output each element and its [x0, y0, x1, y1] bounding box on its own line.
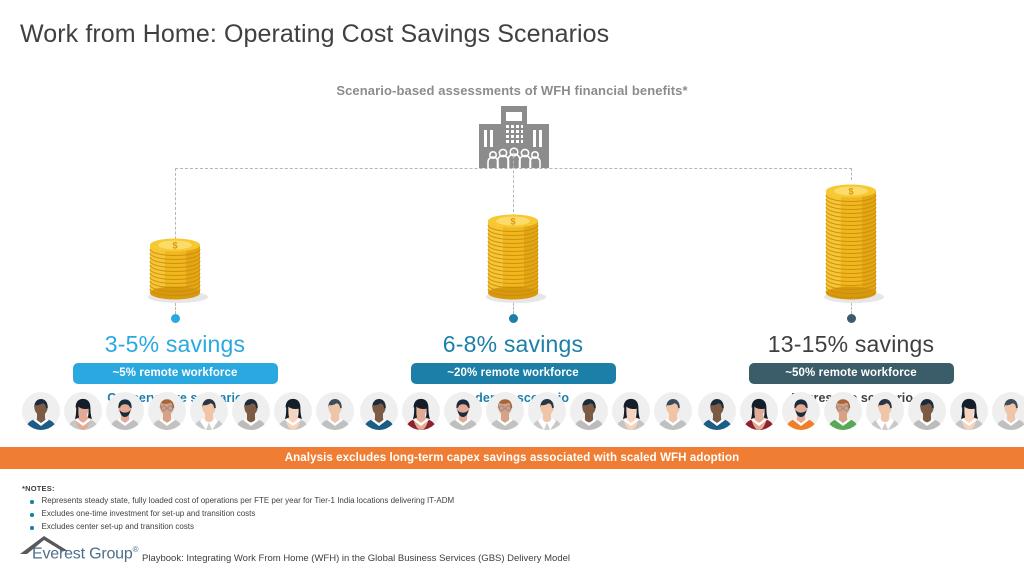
person-avatar-icon — [612, 392, 650, 430]
slide-canvas: Work from Home: Operating Cost Savings S… — [0, 0, 1024, 576]
remote-workforce-badge[interactable]: ~50% remote workforce — [749, 363, 954, 384]
connector-dot-line — [175, 303, 176, 314]
everest-group-logo[interactable]: Everest Group® — [18, 534, 140, 568]
avatar-group-moderate — [360, 392, 692, 430]
remote-workforce-badge[interactable]: ~5% remote workforce — [73, 363, 278, 384]
person-avatar-icon — [190, 392, 228, 430]
coin-stack-wrapper: $ — [681, 170, 1021, 310]
person-avatar-icon — [570, 392, 608, 430]
person-avatar-icon — [486, 392, 524, 430]
person-avatar-icon — [824, 392, 862, 430]
person-avatar-icon — [528, 392, 566, 430]
person-avatar-icon — [64, 392, 102, 430]
remote-workforce-badge[interactable]: ~20% remote workforce — [411, 363, 616, 384]
person-avatar-icon — [22, 392, 60, 430]
coin-stack-icon: $ — [806, 173, 896, 310]
person-avatar-icon — [698, 392, 736, 430]
logo-name: Everest Group — [32, 545, 133, 562]
avatar-group-conservative — [22, 392, 354, 430]
coin-stack-wrapper: $ — [5, 170, 345, 310]
scenario-column-conservative: $ 3-5% savings ~5% remote workforce Cons… — [5, 170, 345, 405]
chart-subtitle: Scenario-based assessments of WFH financ… — [0, 83, 1024, 98]
person-avatar-icon — [908, 392, 946, 430]
person-avatar-icon — [360, 392, 398, 430]
note-item: Excludes center set-up and transition co… — [22, 522, 922, 532]
connector-dot — [509, 314, 518, 323]
footer: Everest Group® Playbook: Integrating Wor… — [18, 534, 570, 568]
coin-stack-wrapper: $ — [343, 170, 683, 310]
svg-text:$: $ — [510, 217, 515, 227]
connector-dot — [171, 314, 180, 323]
note-item: Excludes one-time investment for set-up … — [22, 509, 922, 519]
bullet-icon — [30, 513, 34, 517]
person-avatar-icon — [654, 392, 692, 430]
person-avatar-icon — [950, 392, 988, 430]
coin-stack-icon: $ — [130, 227, 220, 310]
connector-dot — [847, 314, 856, 323]
registered-trademark-icon: ® — [133, 545, 139, 554]
person-avatar-icon — [740, 392, 778, 430]
person-avatar-icon — [232, 392, 270, 430]
notes-heading: *NOTES: — [22, 484, 922, 493]
callout-banner: Analysis excludes long-term capex saving… — [0, 447, 1024, 469]
office-building-icon — [477, 106, 551, 168]
note-text: Excludes center set-up and transition co… — [42, 522, 195, 532]
note-text: Excludes one-time investment for set-up … — [42, 509, 256, 519]
person-avatar-icon — [444, 392, 482, 430]
savings-value: 6-8% savings — [343, 331, 683, 357]
savings-value: 3-5% savings — [5, 331, 345, 357]
bullet-icon — [30, 500, 34, 504]
person-avatar-icon — [274, 392, 312, 430]
person-avatar-icon — [402, 392, 440, 430]
person-avatar-icon — [316, 392, 354, 430]
connector-dot-line — [851, 303, 852, 314]
logo-wordmark: Everest Group® — [32, 545, 138, 563]
scenario-column-moderate: $ 6-8% savings ~20% remote workforce Mod… — [343, 170, 683, 405]
person-avatar-icon — [782, 392, 820, 430]
note-text: Represents steady state, fully loaded co… — [42, 496, 455, 506]
scenario-column-aggressive: $ 13-15% savings ~50% remote workforce A… — [681, 170, 1021, 405]
person-avatar-icon — [992, 392, 1024, 430]
page-title: Work from Home: Operating Cost Savings S… — [20, 20, 609, 49]
coin-stack-icon: $ — [468, 203, 558, 310]
avatar-group-aggressive — [698, 392, 1024, 430]
person-avatar-icon — [866, 392, 904, 430]
footer-document-title: Playbook: Integrating Work From Home (WF… — [142, 553, 570, 568]
connector-dot-line — [513, 303, 514, 314]
bullet-icon — [30, 526, 34, 530]
person-avatar-icon — [148, 392, 186, 430]
notes-section: *NOTES: Represents steady state, fully l… — [22, 484, 922, 532]
svg-text:$: $ — [848, 187, 853, 197]
note-item: Represents steady state, fully loaded co… — [22, 496, 922, 506]
svg-text:$: $ — [172, 241, 177, 251]
savings-value: 13-15% savings — [681, 331, 1021, 357]
person-avatar-icon — [106, 392, 144, 430]
